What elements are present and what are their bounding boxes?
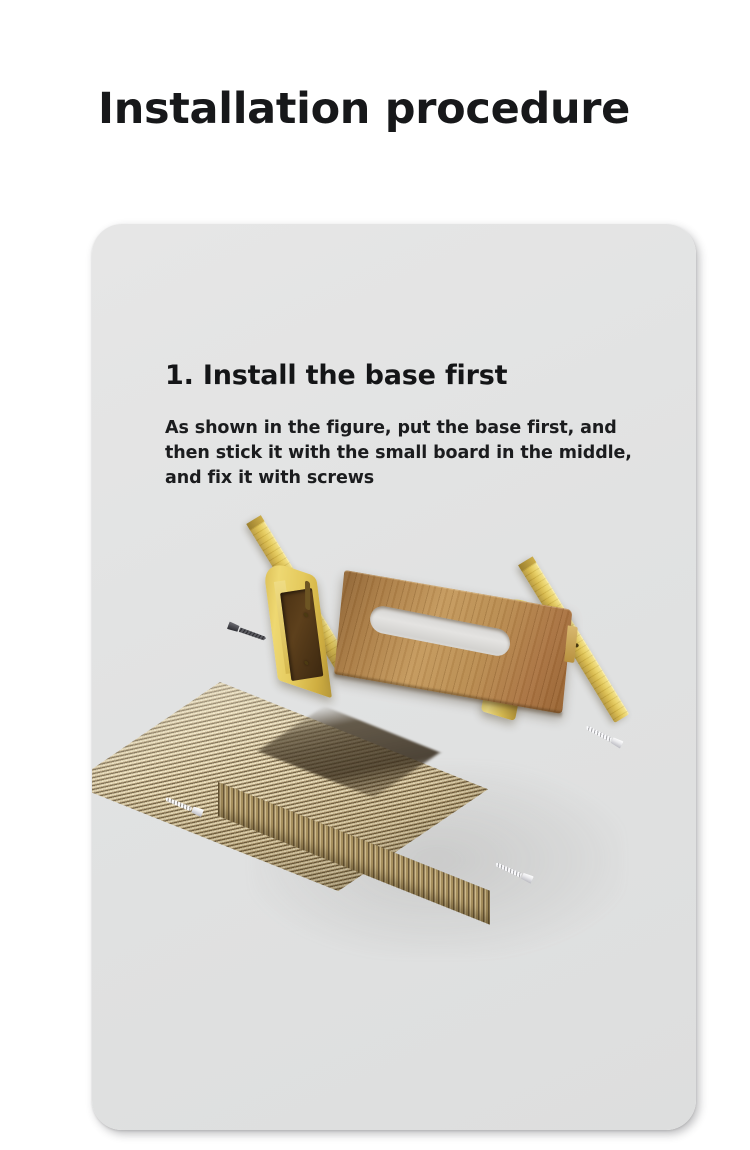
screw-head <box>227 621 240 632</box>
screw <box>227 621 267 642</box>
screw-head <box>610 737 623 749</box>
slat-base-platform <box>220 682 560 942</box>
step-heading: 1. Install the base first <box>165 359 507 393</box>
step-card: 1. Install the base first As shown in th… <box>92 224 696 1130</box>
handle-cutout <box>369 604 512 658</box>
screw-shank <box>585 725 612 742</box>
panel-notch-slot <box>305 580 310 611</box>
screw <box>584 723 623 748</box>
screw-shank <box>239 627 267 641</box>
step-description: As shown in the figure, put the base fir… <box>165 416 665 491</box>
page-title: Installation procedure <box>98 81 698 137</box>
assembly-illustration <box>132 550 696 1020</box>
left-upright-panel <box>262 558 332 698</box>
